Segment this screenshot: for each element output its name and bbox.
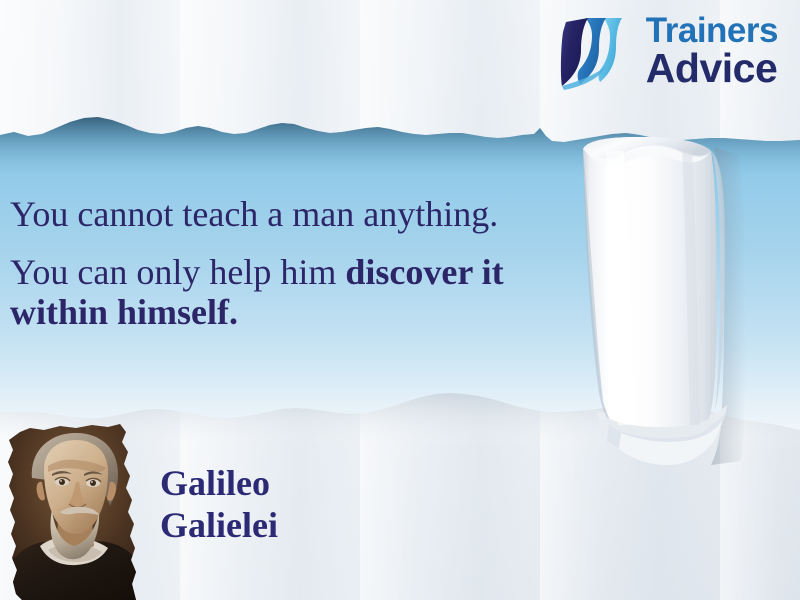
open-book-icon xyxy=(560,12,634,90)
curled-paper-roll-icon xyxy=(575,125,755,485)
attribution: Galileo Galielei xyxy=(160,462,278,547)
brand-line-1: Trainers xyxy=(646,14,778,47)
quote-line-1: You cannot teach a man anything. xyxy=(10,196,590,232)
curled-paper-roll xyxy=(575,125,755,485)
brand-logo[interactable]: Trainers Advice xyxy=(560,12,778,90)
galileo-portrait xyxy=(4,418,144,600)
quote-line-3: within himself. xyxy=(10,294,590,330)
galileo-portrait-icon xyxy=(4,418,144,600)
quote-line-2: You can only help him discover it xyxy=(10,254,590,290)
quote-block: You cannot teach a man anything. You can… xyxy=(10,196,590,330)
brand-wordmark: Trainers Advice xyxy=(646,14,778,87)
attribution-line-2: Galielei xyxy=(160,504,278,546)
attribution-line-1: Galileo xyxy=(160,462,278,504)
quote-card: You cannot teach a man anything. You can… xyxy=(0,0,800,600)
quote-line-2-bold: discover it xyxy=(345,252,503,292)
quote-line-2-plain: You can only help him xyxy=(10,252,345,292)
brand-line-2: Advice xyxy=(646,49,778,88)
